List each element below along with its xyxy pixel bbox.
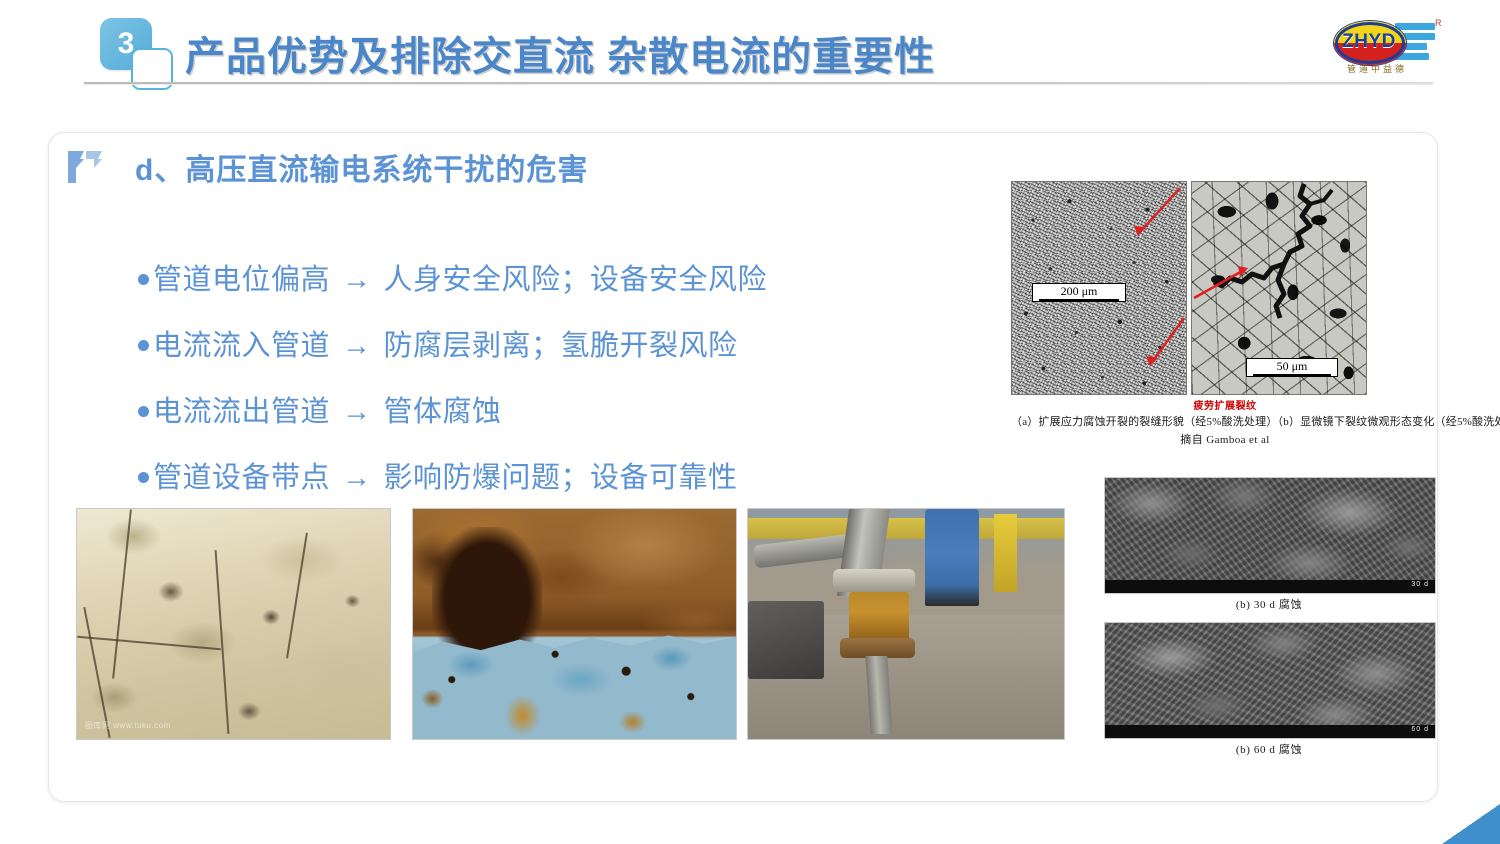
- bullet-cause: 管道电位偏高: [153, 256, 330, 298]
- bullet-dot-icon: [138, 472, 149, 483]
- bullet-cause: 电流流入管道: [153, 322, 330, 364]
- micrograph-source: 摘自 Gamboa et al: [1011, 431, 1439, 447]
- scale-bar-50um: 50 μm: [1246, 358, 1338, 377]
- slide-header: 3 产品优势及排除交直流 杂散电流的重要性 ZHYD 管道中益德 R: [0, 0, 1500, 96]
- registered-mark: R: [1435, 18, 1442, 28]
- arrow-icon: →: [342, 330, 372, 363]
- bullet-item: 管道电位偏高 → 人身安全风险；设备安全风险: [138, 256, 918, 298]
- photo-rusted-painted-steel: [412, 508, 737, 740]
- photo-pipeline-flange-equipment: [747, 508, 1065, 740]
- bullet-item: 电流流出管道 → 管体腐蚀: [138, 388, 918, 430]
- bullet-dot-icon: [138, 340, 149, 351]
- micrograph-row: 200 μm 50 μm: [1011, 181, 1439, 395]
- arrow-icon: →: [342, 264, 372, 297]
- page-title: 产品优势及排除交直流 杂散电流的重要性: [185, 24, 935, 82]
- arrow-icon: →: [342, 462, 372, 495]
- logo-brand-text: ZHYD: [1333, 20, 1405, 64]
- bullet-cause: 管道设备带点: [153, 454, 330, 496]
- bullet-effect: 人身安全风险；设备安全风险: [384, 256, 768, 298]
- arrow-icon: →: [342, 396, 372, 429]
- bullet-effect: 管体腐蚀: [384, 388, 502, 430]
- sem-image-60d: 60 d: [1104, 622, 1436, 739]
- bullet-dot-icon: [138, 274, 149, 285]
- logo-chinese-text: 管道中益德: [1331, 62, 1423, 75]
- bullet-dot-icon: [138, 406, 149, 417]
- flag-bullet-icon: [66, 150, 106, 184]
- bullet-effect: 防腐层剥离；氢脆开裂风险: [384, 322, 738, 364]
- bullet-item: 管道设备带点 → 影响防爆问题；设备可靠性: [138, 454, 918, 496]
- title-underline-shadow: [84, 84, 1433, 85]
- sem-caption-30d: (b) 30 d 腐蚀: [1104, 596, 1434, 612]
- micrograph-figure: 200 μm 50 μm: [1011, 181, 1439, 447]
- corner-decoration: [1442, 804, 1500, 844]
- micrograph-caption: （a）扩展应力腐蚀开裂的裂缝形貌（经5%酸洗处理）（b）显微镜下裂纹微观形态变化…: [1011, 413, 1439, 429]
- photo-concrete-wall-corrosion: 图库网 www.tuku.com: [76, 508, 391, 740]
- bullet-effect: 影响防爆问题；设备可靠性: [384, 454, 738, 496]
- micrograph-image-a: 200 μm: [1011, 181, 1187, 395]
- bullet-cause: 电流流出管道: [153, 388, 330, 430]
- bullet-list: 管道电位偏高 → 人身安全风险；设备安全风险 电流流入管道 → 防腐层剥离；氢脆…: [138, 256, 918, 520]
- sem-image-30d: 30 d: [1104, 477, 1436, 594]
- section-heading: d、高压直流输电系统干扰的危害: [135, 145, 588, 189]
- bullet-item: 电流流入管道 → 防腐层剥离；氢脆开裂风险: [138, 322, 918, 364]
- sem-caption-60d: (b) 60 d 腐蚀: [1104, 741, 1434, 757]
- photo-watermark: 图库网 www.tuku.com: [85, 720, 171, 731]
- company-logo: ZHYD 管道中益德 R: [1327, 12, 1447, 76]
- micrograph-image-b: 50 μm: [1191, 181, 1367, 395]
- fatigue-crack-annotation: 疲劳扩展裂纹: [1011, 397, 1439, 412]
- scale-bar-200um: 200 μm: [1032, 283, 1126, 302]
